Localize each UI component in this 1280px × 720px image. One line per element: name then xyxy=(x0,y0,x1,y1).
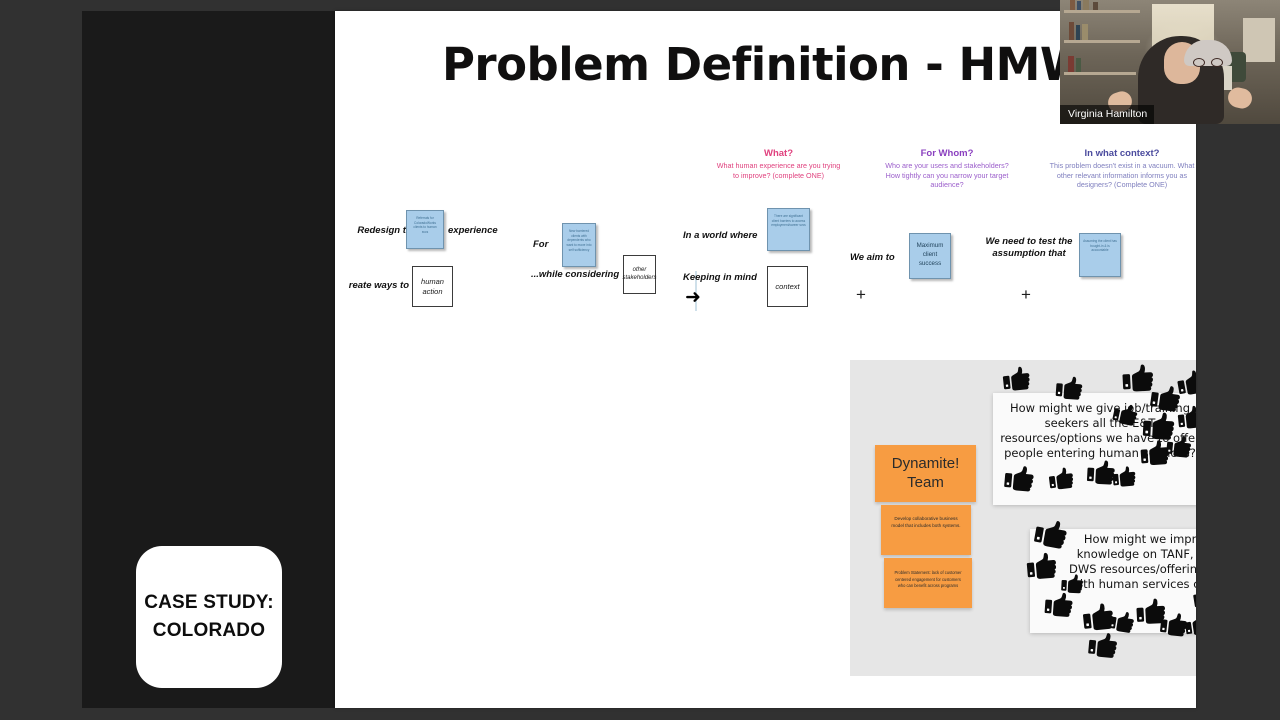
sticky-note-to-what-end: Maximum client success xyxy=(909,233,951,279)
column-heading: In what context? xyxy=(1047,148,1196,159)
framework-column-what: What? What human experience are you tryi… xyxy=(716,148,841,180)
sentence-experience: experience xyxy=(448,225,508,237)
bookshelf-shelf xyxy=(1064,72,1136,75)
column-body: What human experience are you trying to … xyxy=(716,161,841,180)
sentence-we-need-to-test: We need to test the assumption that xyxy=(980,236,1078,260)
case-study-badge: CASE STUDY: COLORADO xyxy=(136,546,282,688)
sentence-we-aim-to: We aim to xyxy=(850,252,904,264)
sentence-for: For xyxy=(533,239,555,251)
sticky-note-context: There are significant client barriers to… xyxy=(767,208,810,251)
sticky-note-for-whom: New barriered clients with dependents wh… xyxy=(562,223,596,267)
plus-icon-2: + xyxy=(1021,286,1031,303)
case-study-line-1: CASE STUDY: xyxy=(144,589,274,617)
participant-face xyxy=(1164,42,1200,84)
sticky-note-what: Referrals for ColoradoWorks clients to h… xyxy=(406,210,444,249)
blank-human-action: human action xyxy=(412,266,453,307)
sentence-in-a-world-where: In a world where xyxy=(683,230,761,242)
sentence-while-considering: ...while considering xyxy=(531,269,621,281)
whiteboard-photo: Dynamite! Team Develop collaborative bus… xyxy=(850,360,1196,676)
book xyxy=(1070,0,1075,10)
book xyxy=(1076,58,1081,72)
book xyxy=(1082,24,1088,40)
book xyxy=(1076,25,1080,40)
thumbs-up-cluster xyxy=(850,360,1196,676)
column-heading: For Whom? xyxy=(882,148,1012,159)
zoom-screen-share-window: Problem Definition - HMW ➜ What? What hu… xyxy=(0,0,1280,720)
sticky-note-assumption: Assuming the client has bought-in & is a… xyxy=(1079,233,1121,277)
book xyxy=(1083,0,1089,10)
sentence-create-ways-to: reate ways to xyxy=(343,280,409,292)
shelf-unit-right xyxy=(1243,18,1275,62)
column-heading: What? xyxy=(716,148,841,159)
participant-video-tile[interactable]: Virginia Hamilton xyxy=(1060,0,1280,124)
arrow-right-icon: ➜ xyxy=(685,288,701,307)
sentence-keeping-in-mind: Keeping in mind xyxy=(683,272,763,284)
bookshelf-shelf xyxy=(1064,40,1140,43)
blank-context: context xyxy=(767,266,808,307)
book xyxy=(1068,56,1074,72)
case-study-line-2: COLORADO xyxy=(153,617,265,645)
blank-other-stakeholders: other stakeholders xyxy=(623,255,656,294)
column-body: Who are your users and stakeholders? How… xyxy=(882,161,1012,190)
column-body: This problem doesn't exist in a vacuum. … xyxy=(1047,161,1196,190)
plus-icon-1: + xyxy=(856,286,866,303)
framework-column-context: In what context? This problem doesn't ex… xyxy=(1047,148,1196,190)
book xyxy=(1093,2,1098,10)
framework-column-for-whom: For Whom? Who are your users and stakeho… xyxy=(882,148,1012,190)
bookshelf-shelf xyxy=(1064,10,1140,13)
participant-name-label: Virginia Hamilton xyxy=(1060,105,1154,124)
book xyxy=(1077,1,1081,10)
glasses-icon xyxy=(1193,58,1223,67)
book xyxy=(1069,22,1074,40)
